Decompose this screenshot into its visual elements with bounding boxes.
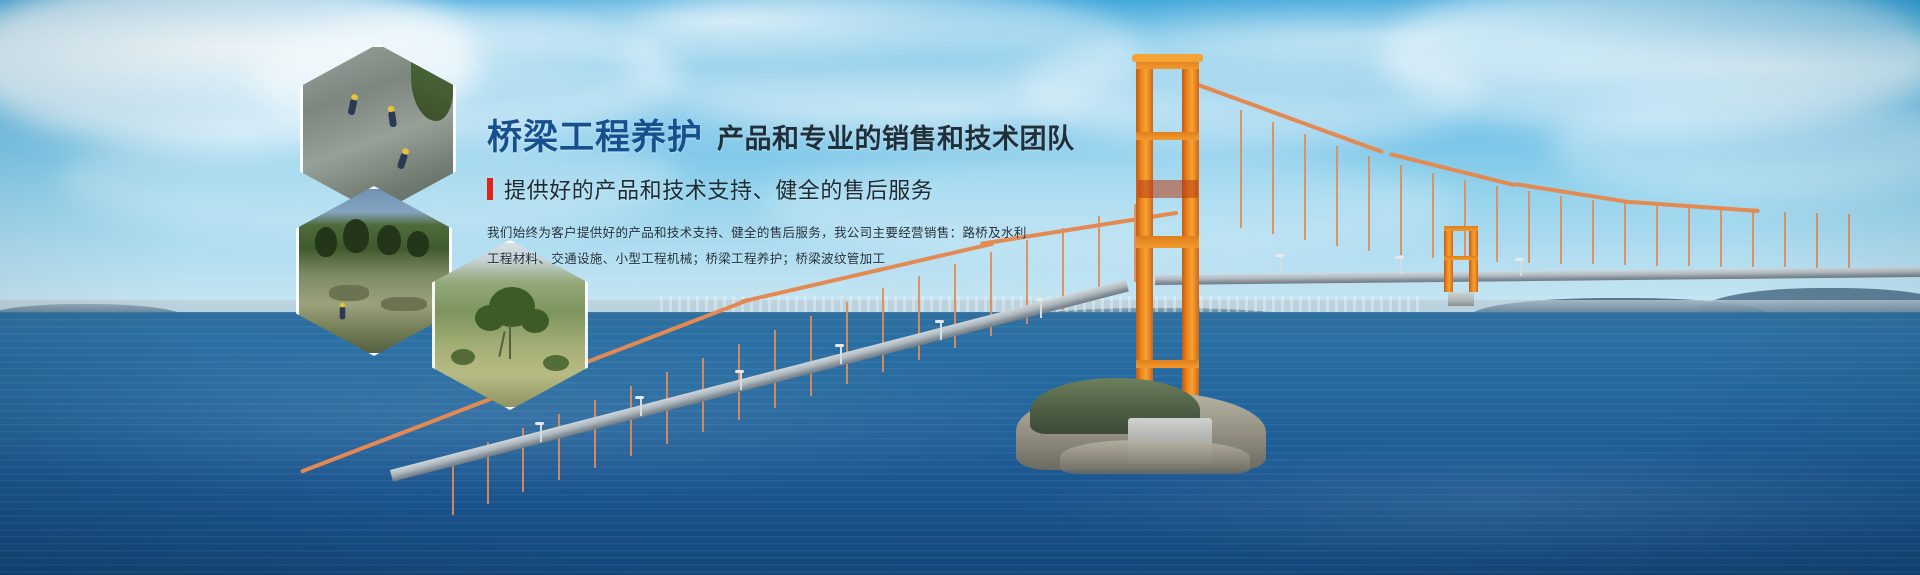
suspension-bridge bbox=[0, 0, 1920, 575]
headline: 桥梁工程养护 产品和专业的销售和技术团队 bbox=[487, 120, 1027, 155]
headline-main: 桥梁工程养护 bbox=[487, 120, 703, 155]
description-paragraph: 我们始终为客户提供好的产品和技术支持、健全的售后服务，我公司主要经营销售：路桥及… bbox=[487, 224, 1027, 270]
island-rock-lower bbox=[1060, 440, 1250, 474]
headline-sub: 产品和专业的销售和技术团队 bbox=[717, 126, 1075, 155]
bridge-tower-side bbox=[1440, 226, 1484, 416]
banner-text-block: 桥梁工程养护 产品和专业的销售和技术团队 提供好的产品和技术支持、健全的售后服务… bbox=[487, 120, 1027, 277]
description-line-1: 我们始终为客户提供好的产品和技术支持、健全的售后服务，我公司主要经营销售：路桥及… bbox=[487, 224, 1027, 243]
subheading-row: 提供好的产品和技术支持、健全的售后服务 bbox=[487, 173, 1027, 205]
hero-banner: 桥梁工程养护 产品和专业的销售和技术团队 提供好的产品和技术支持、健全的售后服务… bbox=[0, 0, 1920, 575]
photo-green-slope-netting[interactable] bbox=[296, 186, 452, 356]
description-line-2: 工程材料、交通设施、小型工程机械；桥梁工程养护；桥梁波纹管加工 bbox=[487, 250, 1027, 269]
accent-bar-icon bbox=[487, 178, 493, 200]
bridge-pier-side bbox=[1448, 292, 1474, 306]
bridge-deck-right bbox=[1155, 267, 1920, 285]
subheading: 提供好的产品和技术支持、健全的售后服务 bbox=[504, 173, 933, 205]
